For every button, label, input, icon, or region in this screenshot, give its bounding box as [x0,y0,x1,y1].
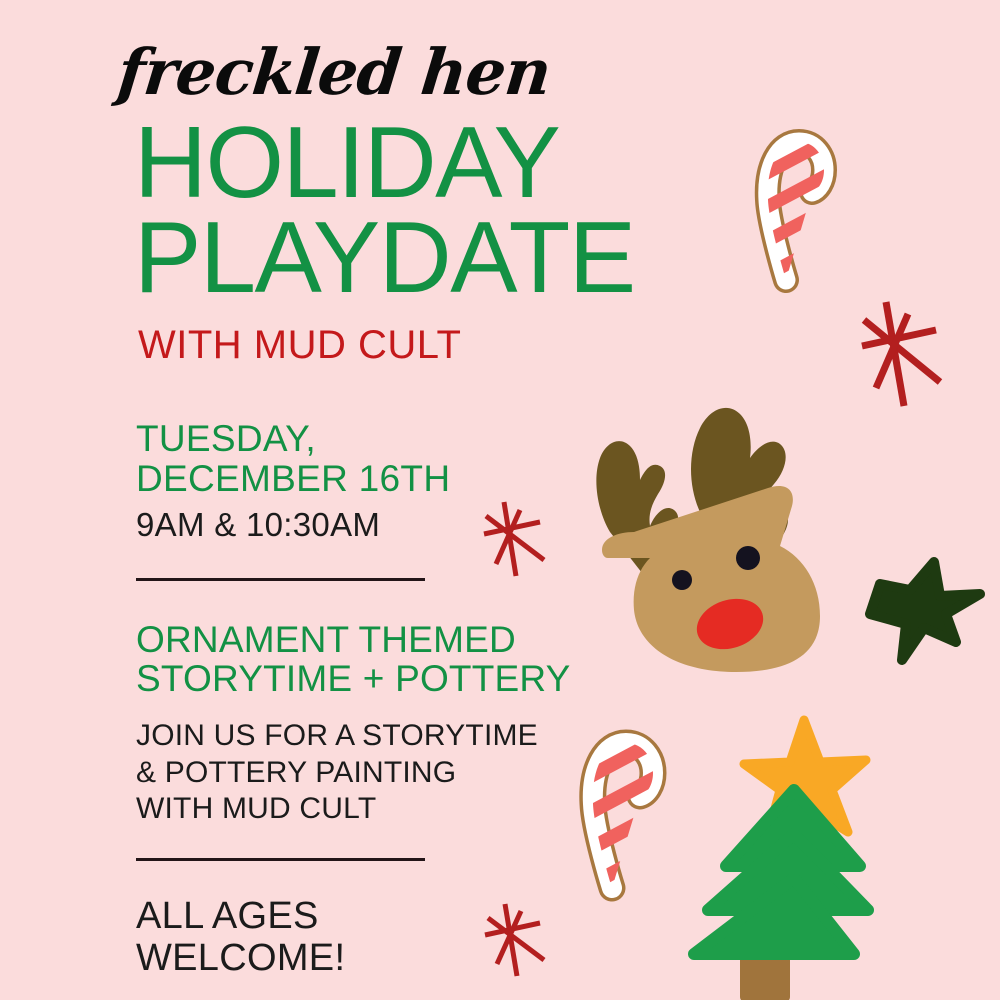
subtitle-partner: WITH MUD CULT [138,325,462,365]
star-icon [862,556,988,672]
sparkle-icon [474,898,556,980]
closing-note-line-1: ALL AGES [136,896,345,938]
reindeer-head-icon [572,362,848,672]
brand-script-logo: freckled hen [115,41,554,104]
activity-title-line-2: STORYTIME + POTTERY [136,659,571,698]
event-date-line-1: TUESDAY, [136,419,450,459]
sparkle-icon [842,296,960,414]
event-times: 9AM & 10:30AM [136,508,380,541]
headline-line-2: PLAYDATE [134,209,635,308]
activity-description-line-3: WITH MUD CULT [136,791,538,828]
closing-note-line-2: WELCOME! [136,938,345,980]
activity-title: ORNAMENT THEMED STORYTIME + POTTERY [136,620,571,698]
activity-description: JOIN US FOR A STORYTIME & POTTERY PAINTI… [136,718,538,828]
christmas-tree-icon [688,712,980,1000]
event-date: TUESDAY, DECEMBER 16TH [136,419,450,499]
divider-top [136,578,425,581]
holiday-playdate-flyer: freckled hen HOLIDAY PLAYDATE WITH MUD C… [0,0,1000,1000]
activity-description-line-1: JOIN US FOR A STORYTIME [136,718,538,755]
event-date-line-2: DECEMBER 16TH [136,459,450,499]
divider-bottom [136,858,425,861]
candy-cane-icon [742,112,834,284]
candy-cane-icon [564,712,664,892]
activity-title-line-1: ORNAMENT THEMED [136,620,571,659]
page-title: HOLIDAY PLAYDATE [134,114,635,308]
activity-description-line-2: & POTTERY PAINTING [136,755,538,792]
sparkle-icon [472,496,556,580]
closing-note: ALL AGES WELCOME! [136,896,345,980]
